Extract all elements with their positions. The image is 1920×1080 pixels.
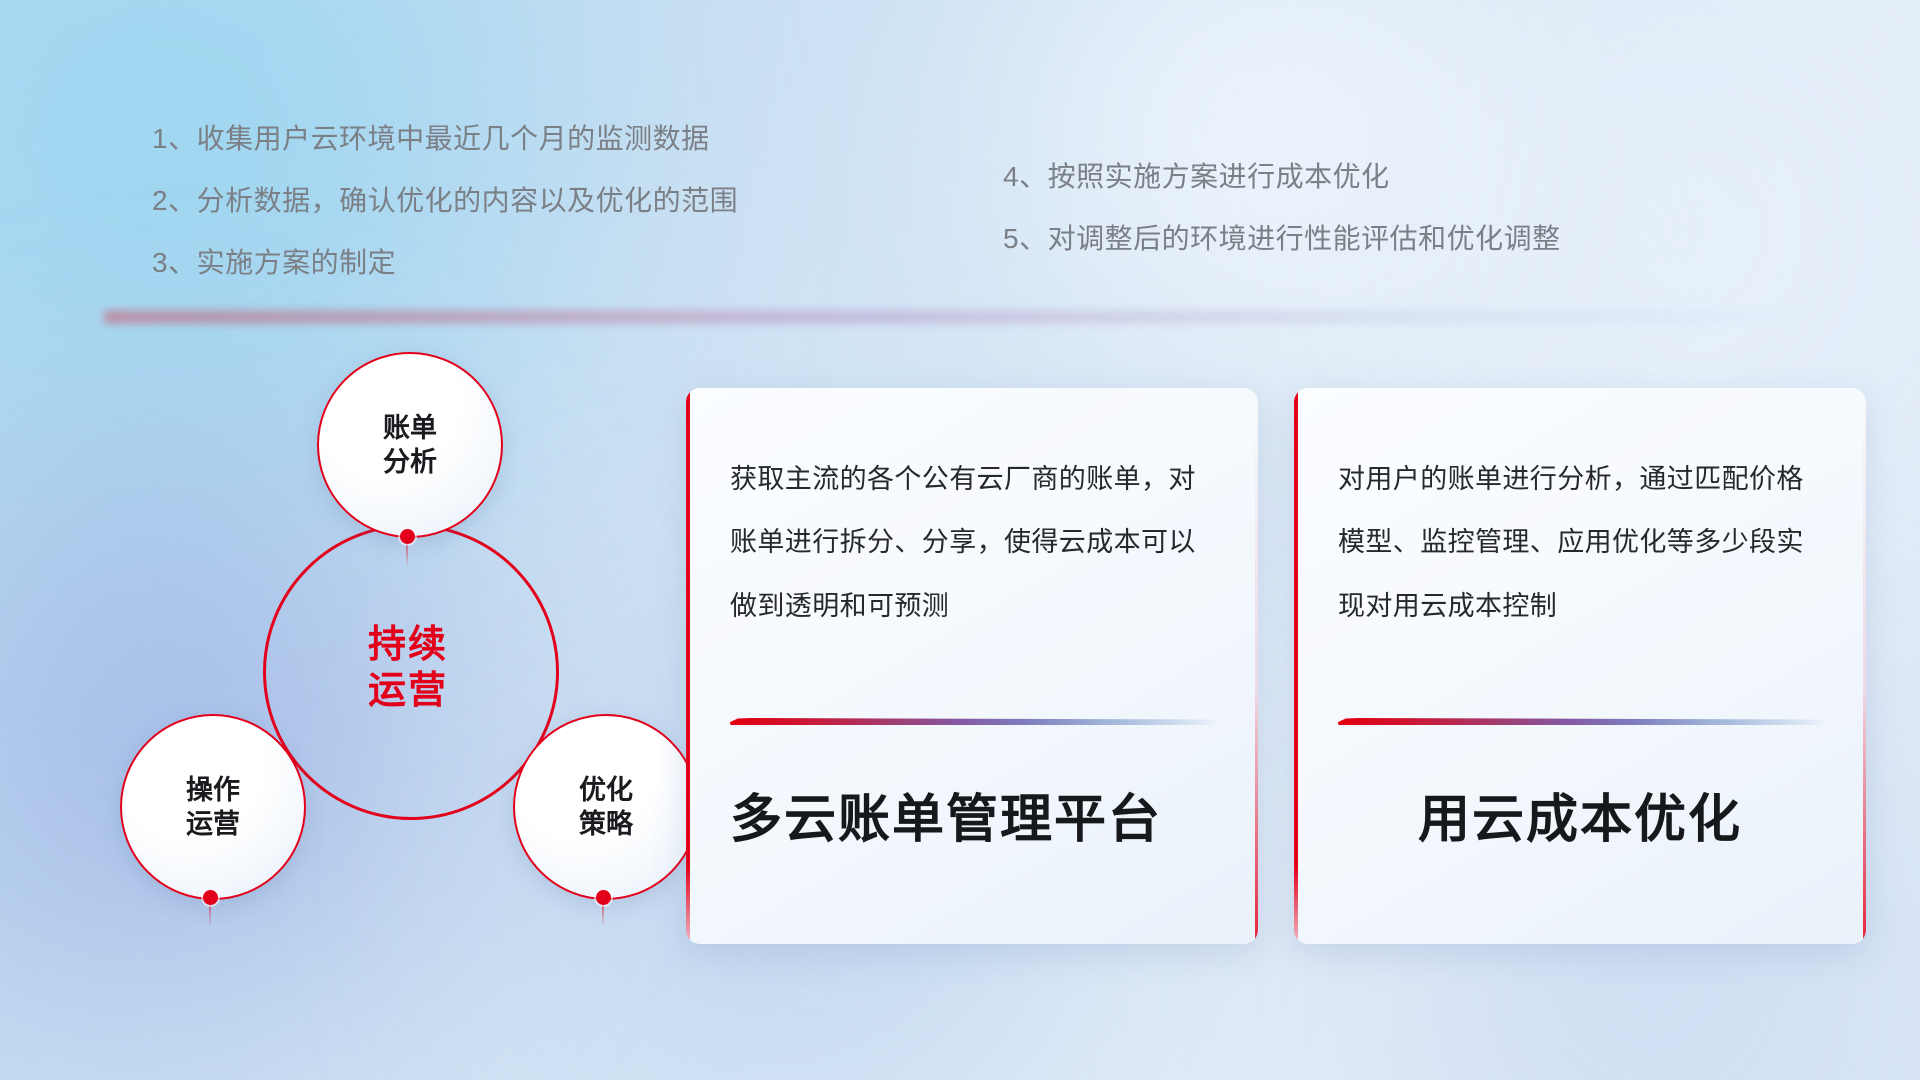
venn-marker-dot-bottom-right <box>596 890 611 905</box>
feature-card-cost-optimization[interactable]: 对用户的账单进行分析，通过匹配价格模型、监控管理、应用优化等多少段实现对用云成本… <box>1294 388 1866 944</box>
feature-card-cost-optimization-title: 用云成本优化 <box>1324 792 1836 849</box>
feature-card-multicloud-billing[interactable]: 获取主流的各个公有云厂商的账单，对账单进行拆分、分享，使得云成本可以做到透明和可… <box>686 388 1258 944</box>
venn-marker-tail-top <box>406 542 408 568</box>
feature-card-cost-optimization-rule <box>1338 718 1828 725</box>
venn-marker-tail-bottom-right <box>602 903 604 927</box>
step-item-4: 4、按照实施方案进行成本优化 <box>1003 163 1561 191</box>
step-item-3: 3、实施方案的制定 <box>152 249 738 277</box>
venn-node-optimization-strategy[interactable]: 优化 策略 <box>513 714 699 900</box>
steps-list-left: 1、收集用户云环境中最近几个月的监测数据 2、分析数据，确认优化的内容以及优化的… <box>152 125 738 311</box>
venn-node-optimization-strategy-line2: 策略 <box>579 807 633 841</box>
feature-card-cost-optimization-body: 对用户的账单进行分析，通过匹配价格模型、监控管理、应用优化等多少段实现对用云成本… <box>1338 448 1828 638</box>
slide-canvas: 1、收集用户云环境中最近几个月的监测数据 2、分析数据，确认优化的内容以及优化的… <box>0 0 1920 1080</box>
venn-node-bill-analysis-line2: 分析 <box>383 445 437 479</box>
venn-node-operations[interactable]: 操作 运营 <box>120 714 306 900</box>
venn-node-optimization-strategy-line1: 优化 <box>579 773 633 807</box>
feature-card-multicloud-billing-rule <box>730 718 1220 725</box>
step-item-2: 2、分析数据，确认优化的内容以及优化的范围 <box>152 187 738 215</box>
venn-node-operations-line2: 运营 <box>186 807 240 841</box>
feature-card-multicloud-billing-title: 多云账单管理平台 <box>730 792 1228 849</box>
venn-center-label: 持续 运营 <box>263 588 553 748</box>
venn-diagram: 持续 运营 账单 分析 操作 运营 优化 策略 <box>95 352 655 952</box>
venn-node-operations-line1: 操作 <box>186 773 240 807</box>
venn-node-bill-analysis-line1: 账单 <box>383 411 437 445</box>
step-item-5: 5、对调整后的环境进行性能评估和优化调整 <box>1003 225 1561 253</box>
venn-marker-tail-bottom-left <box>209 903 211 927</box>
venn-node-bill-analysis[interactable]: 账单 分析 <box>317 352 503 538</box>
feature-card-multicloud-billing-body: 获取主流的各个公有云厂商的账单，对账单进行拆分、分享，使得云成本可以做到透明和可… <box>730 448 1220 638</box>
steps-list-right: 4、按照实施方案进行成本优化 5、对调整后的环境进行性能评估和优化调整 <box>1003 163 1561 287</box>
venn-marker-dot-bottom-left <box>203 890 218 905</box>
step-item-1: 1、收集用户云环境中最近几个月的监测数据 <box>152 125 738 153</box>
venn-center-label-line2: 运营 <box>368 668 448 714</box>
venn-center-label-line1: 持续 <box>368 622 448 668</box>
venn-marker-dot-top <box>400 529 415 544</box>
